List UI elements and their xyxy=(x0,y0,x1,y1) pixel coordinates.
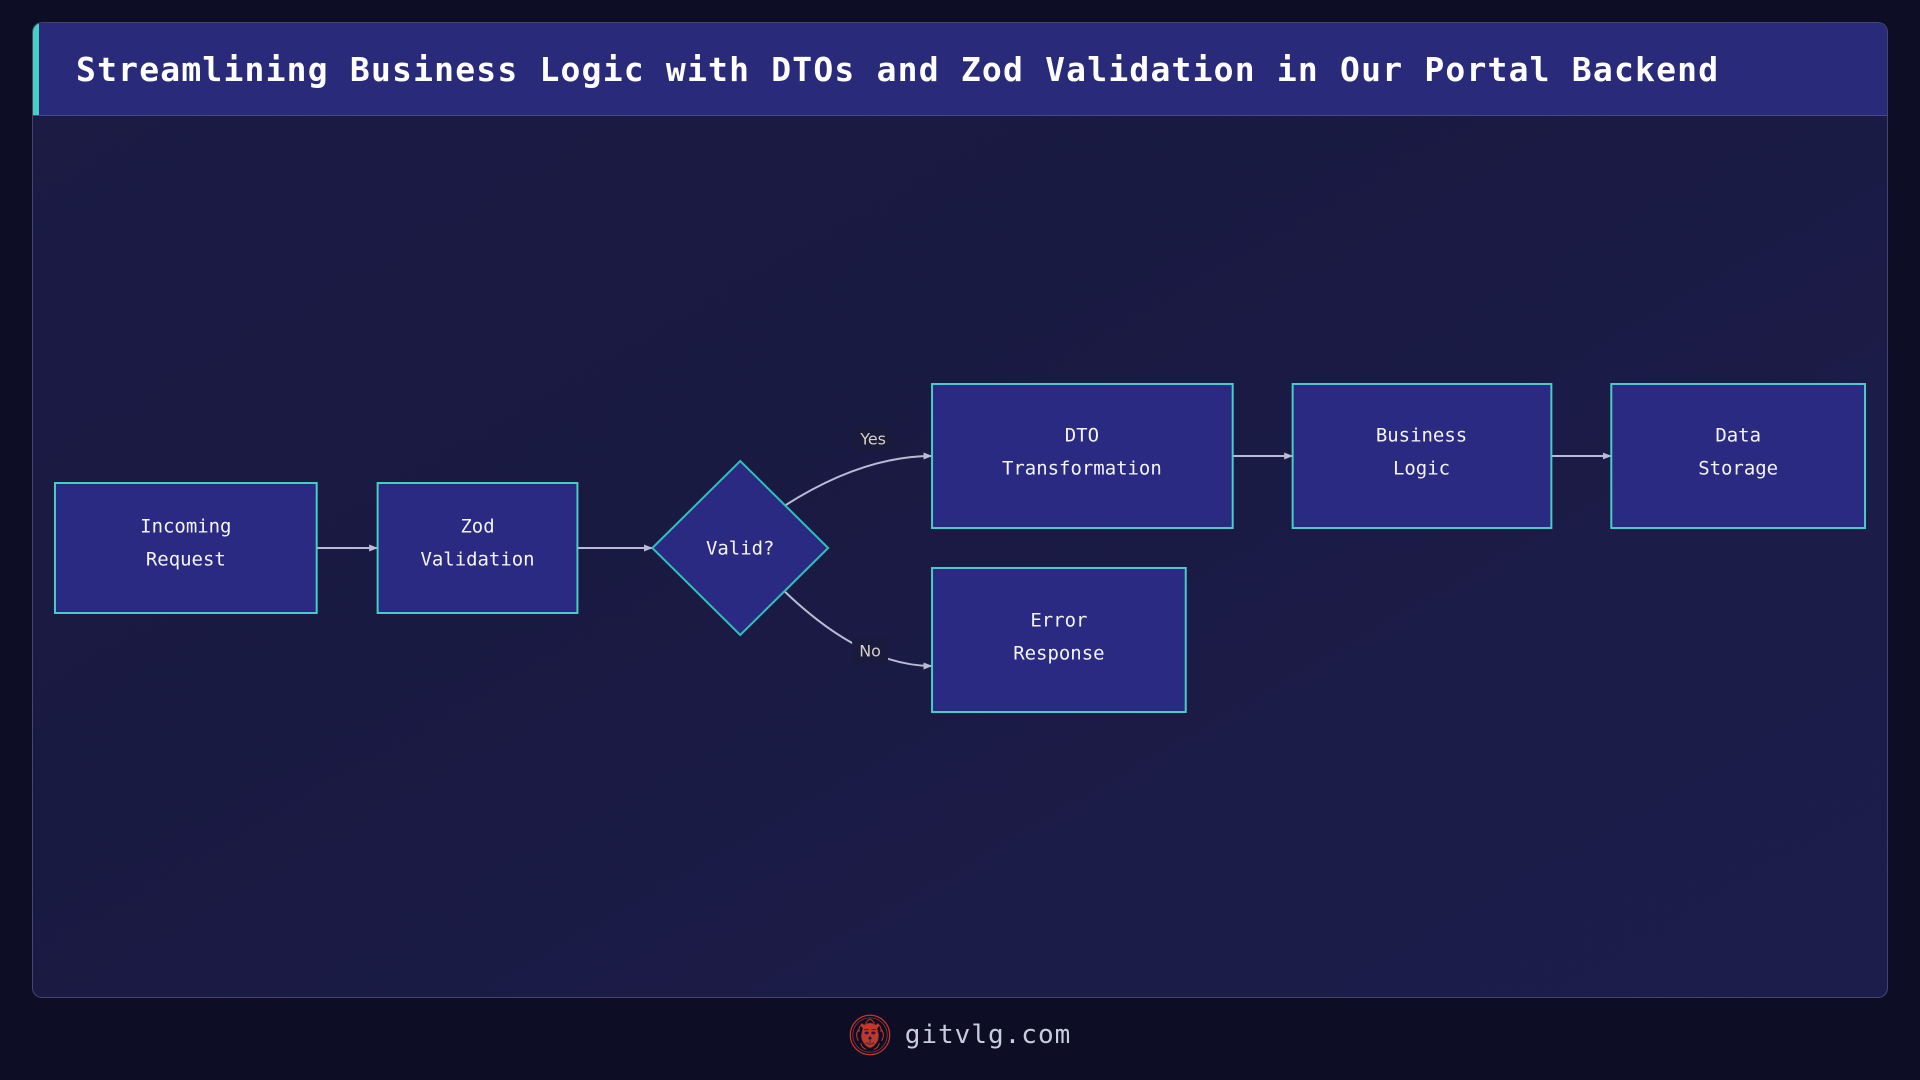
edge-valid-to-dto: Yes xyxy=(784,426,932,506)
node-error-response-line1: Error xyxy=(1030,609,1087,631)
footer-site-label: gitvlg.com xyxy=(905,1020,1072,1050)
node-incoming-request-line1: Incoming xyxy=(140,515,231,537)
node-dto-transformation-line1: DTO xyxy=(1065,424,1099,446)
node-zod-validation[interactable]: Zod Validation xyxy=(378,483,578,613)
node-incoming-request[interactable]: Incoming Request xyxy=(55,483,317,613)
node-error-response[interactable]: Error Response xyxy=(932,568,1186,712)
header-accent-bar xyxy=(33,23,39,115)
page-card: Streamlining Business Logic with DTOs an… xyxy=(32,22,1888,998)
node-business-logic-line2: Logic xyxy=(1393,457,1450,479)
node-error-response-line2: Response xyxy=(1013,642,1104,664)
flowchart-svg: Yes No Incoming Request Zod xyxy=(33,116,1887,998)
edge-label-yes: Yes xyxy=(859,429,886,448)
node-valid-decision[interactable]: Valid? xyxy=(652,461,828,635)
header-bar: Streamlining Business Logic with DTOs an… xyxy=(33,23,1887,116)
node-dto-transformation-line2: Transformation xyxy=(1002,457,1162,479)
node-data-storage-line2: Storage xyxy=(1698,457,1778,479)
node-zod-validation-line1: Zod xyxy=(460,515,494,537)
node-valid-decision-label: Valid? xyxy=(706,537,774,559)
flowchart-canvas: Yes No Incoming Request Zod xyxy=(33,116,1887,998)
page-title: Streamlining Business Logic with DTOs an… xyxy=(76,50,1719,89)
node-business-logic[interactable]: Business Logic xyxy=(1293,384,1552,528)
edge-label-no: No xyxy=(859,641,881,660)
node-zod-validation-line2: Validation xyxy=(420,548,534,570)
node-data-storage-line1: Data xyxy=(1715,424,1761,446)
node-business-logic-line1: Business xyxy=(1376,424,1467,446)
edge-valid-to-error: No xyxy=(784,591,932,666)
node-data-storage[interactable]: Data Storage xyxy=(1611,384,1865,528)
node-dto-transformation[interactable]: DTO Transformation xyxy=(932,384,1233,528)
node-incoming-request-line2: Request xyxy=(146,548,226,570)
lion-head-logo-icon xyxy=(849,1014,891,1056)
footer: gitvlg.com xyxy=(0,1005,1920,1065)
